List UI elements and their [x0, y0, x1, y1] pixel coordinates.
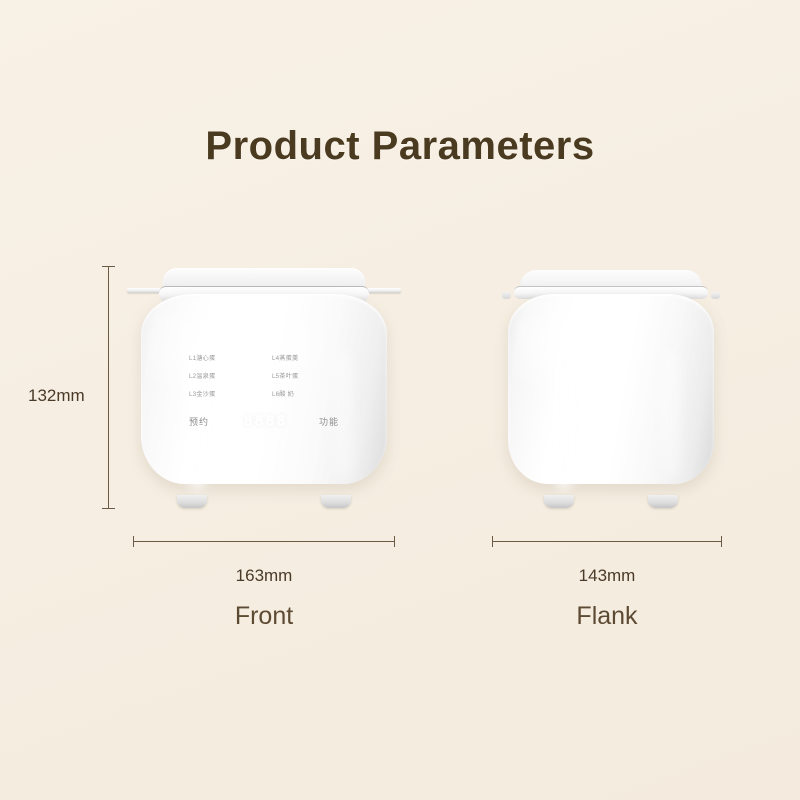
front-view-product-image: L1溏心蛋 L4蒸蛋羹 L2温泉蛋 L5茶叶蛋 L3金沙蛋 L6酸 奶 预约 8… — [133, 262, 395, 510]
display-digit-3: 8 — [266, 412, 274, 430]
function-button[interactable]: 功能 — [319, 415, 339, 428]
display-digit-2: 8 — [254, 412, 262, 430]
menu-item-l1[interactable]: L1溏心蛋 — [189, 350, 256, 368]
foot-left — [177, 495, 207, 508]
digital-display: 8 8 8 8 — [241, 411, 286, 431]
foot-left-flank — [544, 495, 574, 508]
foot-right — [321, 495, 351, 508]
hinge-nub-left — [502, 292, 511, 299]
display-digit-4: 8 — [277, 412, 285, 430]
page-title: Product Parameters — [0, 124, 800, 169]
height-dimension-label: 132mm — [28, 386, 85, 406]
body-highlight-right-flank — [656, 348, 686, 480]
menu-label-grid: L1溏心蛋 L4蒸蛋羹 L2温泉蛋 L5茶叶蛋 L3金沙蛋 L6酸 奶 — [189, 350, 339, 404]
cooker-body-flank — [508, 294, 714, 484]
display-digit-1: 8 — [243, 412, 251, 430]
front-width-dimension-line — [133, 541, 395, 542]
control-panel: L1溏心蛋 L4蒸蛋羹 L2温泉蛋 L5茶叶蛋 L3金沙蛋 L6酸 奶 预约 8… — [189, 350, 339, 436]
front-view-caption: Front — [133, 602, 395, 631]
height-dimension-line — [108, 266, 109, 509]
menu-item-l3[interactable]: L3金沙蛋 — [189, 386, 256, 404]
hinge-nub-right — [711, 292, 720, 299]
menu-item-l2[interactable]: L2温泉蛋 — [189, 368, 256, 386]
body-highlight-left-flank — [542, 340, 586, 490]
flank-view-product-image — [500, 262, 722, 510]
control-panel-row: 预约 8 8 8 8 功能 — [189, 408, 339, 434]
menu-item-l5[interactable]: L5茶叶蛋 — [272, 368, 339, 386]
front-width-dimension-label: 163mm — [133, 566, 395, 586]
product-parameters-page: Product Parameters 132mm L1溏心蛋 L4蒸蛋羹 L2温… — [0, 0, 800, 800]
flank-view-caption: Flank — [492, 602, 722, 631]
foot-right-flank — [648, 495, 678, 508]
flank-width-dimension-line — [492, 541, 722, 542]
menu-item-l6[interactable]: L6酸 奶 — [272, 386, 339, 404]
flank-width-dimension-label: 143mm — [492, 566, 722, 586]
reserve-button[interactable]: 预约 — [189, 415, 209, 428]
menu-item-l4[interactable]: L4蒸蛋羹 — [272, 350, 339, 368]
